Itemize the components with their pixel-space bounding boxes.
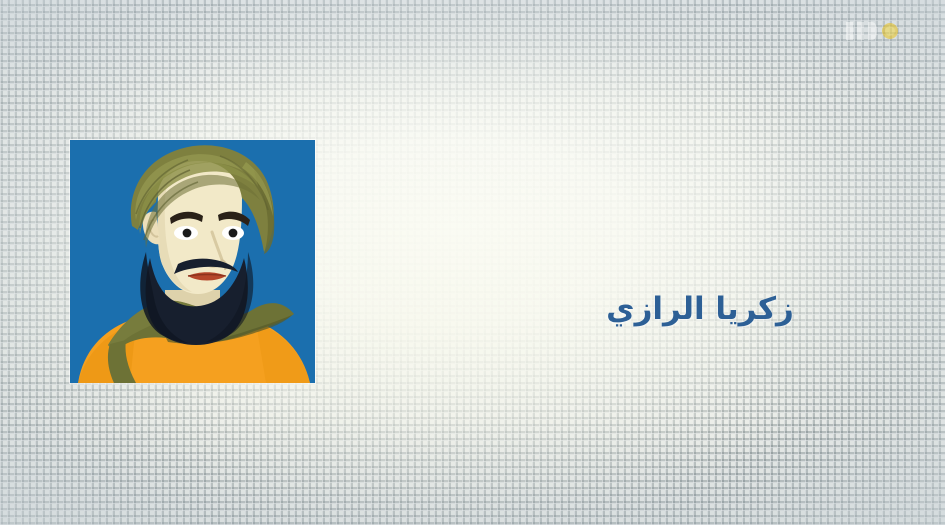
page-title: زكريا الرازي <box>560 291 840 327</box>
eye-left-pupil <box>183 229 192 238</box>
portrait-illustration-zakariya-al-razi <box>70 140 315 383</box>
channel-logo <box>842 14 904 48</box>
eye-right-pupil <box>229 229 238 238</box>
portrait-card <box>70 140 315 383</box>
slide-canvas: زكريا الرازي <box>0 0 945 525</box>
channel-logo-icon <box>842 14 904 48</box>
